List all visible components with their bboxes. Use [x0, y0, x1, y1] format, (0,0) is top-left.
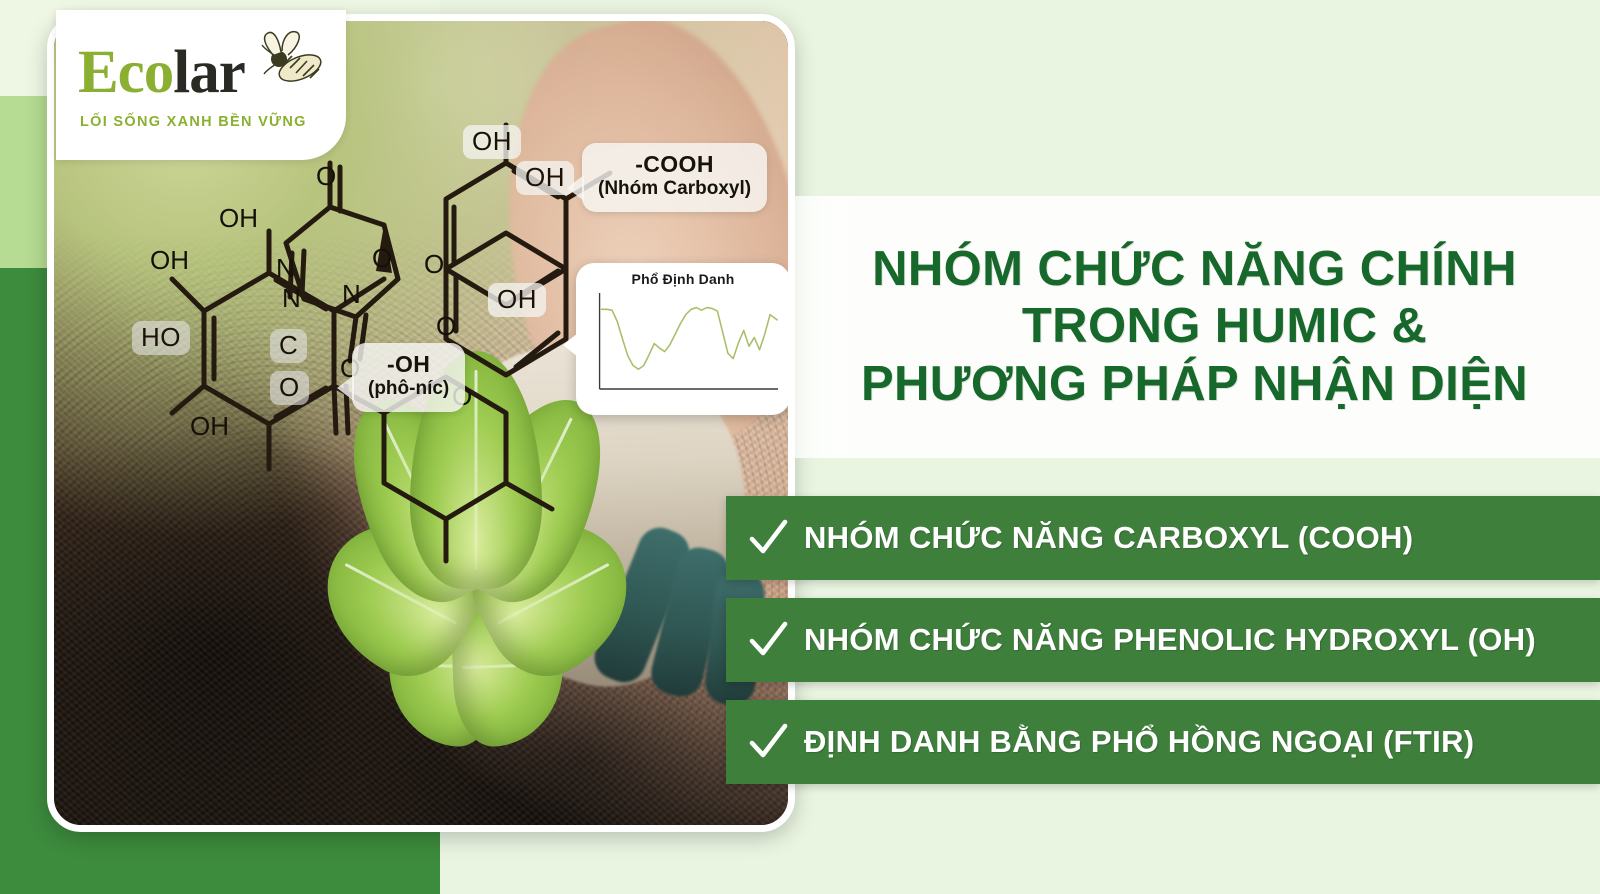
check-icon	[748, 620, 788, 660]
feature-item-label: ĐỊNH DANH BẰNG PHỔ HỒNG NGOẠI (FTIR)	[804, 724, 1474, 760]
ftir-spectrum-title: Phổ Định Danh	[586, 271, 780, 287]
atom-label-o: O	[436, 311, 456, 342]
poster-canvas: OH OH OH OH OH HO OH C O N N N O O O O O…	[0, 0, 1600, 894]
headline-panel: NHÓM CHỨC NĂNG CHÍNH TRONG HUMIC & PHƯƠN…	[795, 196, 1600, 458]
check-icon	[748, 722, 788, 762]
headline-line-2: TRONG HUMIC &	[817, 298, 1572, 355]
atom-label-o-highlight: O	[270, 371, 309, 405]
feature-item-phenolic-hydroxyl[interactable]: NHÓM CHỨC NĂNG PHENOLIC HYDROXYL (OH)	[726, 598, 1600, 682]
brand-logo-card[interactable]: Ecolar LỐI SỐNG XANH BỀN VỮNG	[56, 10, 346, 160]
callout-hydroxyl-title: -OH	[368, 352, 449, 378]
atom-label-oh-highlight: OH	[463, 125, 521, 159]
feature-item-ftir[interactable]: ĐỊNH DANH BẰNG PHỔ HỒNG NGOẠI (FTIR)	[726, 700, 1600, 784]
atom-label-n: N	[276, 253, 295, 284]
atom-label-oh-highlight: OH	[488, 283, 546, 317]
callout-carboxyl-subtitle: (Nhóm Carboxyl)	[598, 178, 751, 201]
ftir-spectrum-plot	[586, 289, 780, 401]
headline-line-3: PHƯƠNG PHÁP NHẬN DIỆN	[817, 356, 1572, 413]
ftir-spectrum-card: Phổ Định Danh	[576, 263, 788, 415]
callout-hydroxyl: -OH (phô-níc)	[352, 343, 465, 412]
brand-name-lar: lar	[173, 39, 245, 106]
atom-label-oh: OH	[219, 203, 258, 234]
callout-hydroxyl-subtitle: (phô-níc)	[368, 378, 449, 401]
feature-item-label: NHÓM CHỨC NĂNG CARBOXYL (COOH)	[804, 520, 1413, 556]
bee-icon	[248, 24, 332, 94]
atom-label-c-highlight: C	[270, 329, 307, 363]
atom-label-ho-highlight: HO	[132, 321, 190, 355]
feature-item-carboxyl[interactable]: NHÓM CHỨC NĂNG CARBOXYL (COOH)	[726, 496, 1600, 580]
feature-item-label: NHÓM CHỨC NĂNG PHENOLIC HYDROXYL (OH)	[804, 622, 1536, 658]
atom-label-n: N	[342, 279, 361, 310]
check-icon	[748, 518, 788, 558]
atom-label-o: O	[316, 161, 336, 192]
callout-carboxyl-title: -COOH	[598, 152, 751, 178]
atom-label-oh: OH	[190, 411, 229, 442]
brand-tagline: LỐI SỐNG XANH BỀN VỮNG	[80, 114, 307, 130]
atom-label-oh-highlight: OH	[516, 161, 574, 195]
atom-label-oh: OH	[150, 245, 189, 276]
brand-wordmark: Ecolar	[78, 42, 245, 103]
atom-label-o: O	[424, 249, 444, 280]
spectrum-line	[602, 308, 778, 370]
headline-line-1: NHÓM CHỨC NĂNG CHÍNH	[817, 241, 1572, 298]
callout-carboxyl: -COOH (Nhóm Carboxyl)	[582, 143, 767, 212]
feature-list: NHÓM CHỨC NĂNG CARBOXYL (COOH) NHÓM CHỨC…	[726, 496, 1600, 784]
brand-name-eco: Eco	[78, 39, 173, 106]
atom-label-n: N	[282, 283, 301, 314]
atom-label-o: O	[372, 243, 392, 274]
